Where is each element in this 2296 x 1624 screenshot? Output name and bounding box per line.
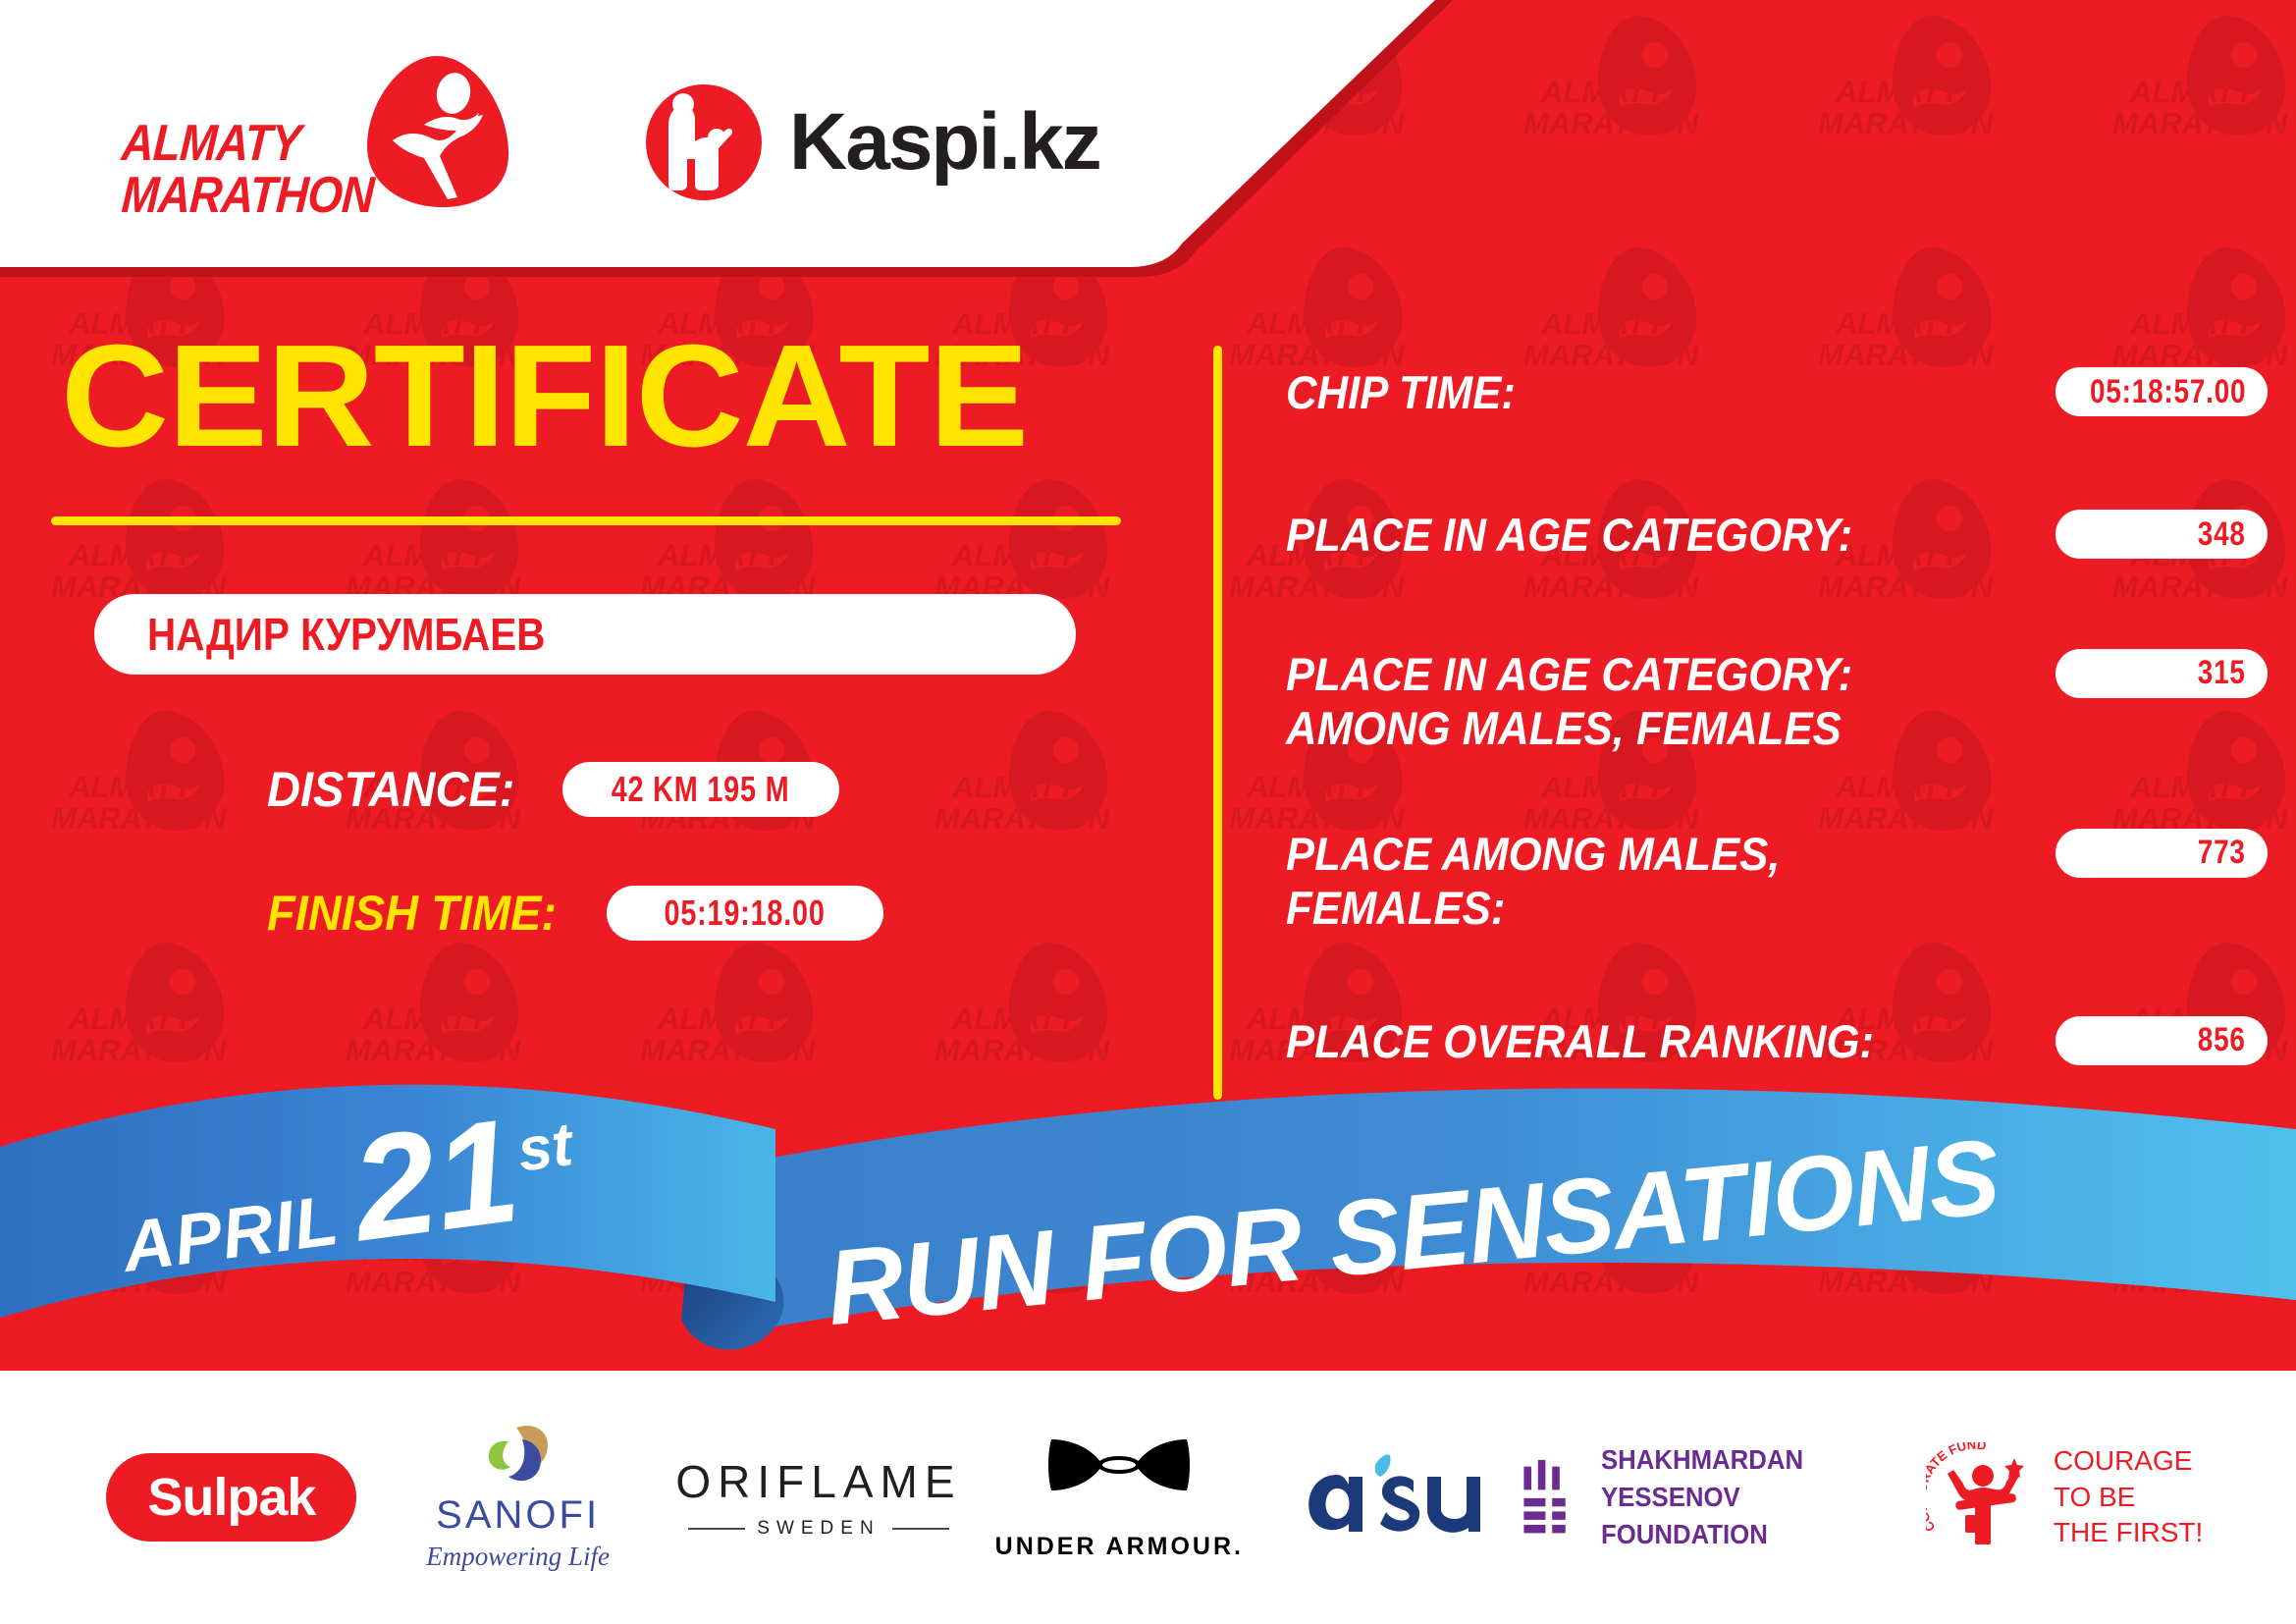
page-title: CERTIFICATE bbox=[61, 324, 1211, 469]
among-gender-value: 773 bbox=[2198, 834, 2246, 872]
yessenov-line-2: FOUNDATION bbox=[1601, 1516, 1896, 1553]
overall-ranking-value: 856 bbox=[2198, 1021, 2246, 1059]
distance-pill: 42 KM 195 M bbox=[562, 762, 839, 817]
result-row-overall: PLACE OVERALL RANKING: 856 bbox=[1286, 1014, 2268, 1068]
overall-ranking-pill: 856 bbox=[2056, 1016, 2268, 1065]
oriflame-wordmark: ORIFLAME bbox=[675, 1455, 961, 1508]
courage-line-2: TO BE bbox=[2054, 1480, 2203, 1515]
left-column: CERTIFICATE НАДИР КУРУМБАЕВ DISTANCE: 42… bbox=[0, 324, 1178, 942]
sanofi-tagline: Empowering Life bbox=[426, 1542, 610, 1572]
sponsor-logos: Sulpak SANOFI Empowering Life ORIFLAME S… bbox=[0, 1371, 2296, 1624]
kaspi-wordmark: Kaspi.kz bbox=[789, 96, 1100, 189]
chip-time-value: 05:18:57.00 bbox=[2090, 373, 2246, 411]
age-category-pill: 348 bbox=[2056, 510, 2268, 559]
sponsor-under-armour: UNDER ARMOUR. bbox=[976, 1424, 1262, 1571]
chip-time-label: CHIP TIME: bbox=[1286, 365, 2002, 419]
sponsor-sulpak: Sulpak bbox=[88, 1424, 375, 1571]
finish-time-value: 05:19:18.00 bbox=[665, 893, 826, 934]
age-category-label: PLACE IN AGE CATEGORY: bbox=[1286, 508, 2002, 562]
almaty-marathon-wordmark: ALMATY MARATHON bbox=[122, 121, 407, 219]
sponsor-oriflame: ORIFLAME SWEDEN bbox=[662, 1424, 977, 1571]
sponsor-sanofi: SANOFI Empowering Life bbox=[375, 1424, 662, 1571]
result-row-among-gender: PLACE AMONG MALES, FEMALES: 773 bbox=[1286, 827, 2268, 936]
almaty-line: ALMATY bbox=[121, 121, 375, 167]
sanofi-wordmark: SANOFI bbox=[426, 1493, 610, 1538]
distance-label: DISTANCE: bbox=[267, 761, 514, 818]
event-day-ordinal: st bbox=[513, 1110, 576, 1186]
result-row-age-category-gender: PLACE IN AGE CATEGORY: AMONG MALES, FEMA… bbox=[1286, 647, 2268, 756]
under-armour-icon bbox=[1045, 1434, 1193, 1520]
courage-line-3: THE FIRST! bbox=[2054, 1515, 2203, 1550]
age-category-gender-value: 315 bbox=[2198, 654, 2246, 692]
marathon-line: MARATHON bbox=[121, 173, 375, 219]
yessenov-line-1: SHAKHMARDAN YESSENOV bbox=[1601, 1441, 1896, 1516]
title-divider bbox=[51, 516, 1121, 525]
result-row-age-category: PLACE IN AGE CATEGORY: 348 bbox=[1286, 508, 2268, 562]
age-category-gender-pill: 315 bbox=[2056, 649, 2268, 698]
kaspi-people-icon bbox=[644, 82, 764, 202]
finish-time-pill: 05:19:18.00 bbox=[607, 886, 883, 941]
distance-value: 42 KM 195 M bbox=[612, 769, 790, 810]
event-ribbon: APRIL 21 st RUN FOR SENSATIONS bbox=[0, 1074, 2296, 1388]
kaspi-logo: Kaspi.kz bbox=[644, 82, 1100, 202]
sponsor-asu bbox=[1262, 1424, 1521, 1571]
asu-wordmark bbox=[1298, 1453, 1484, 1542]
among-gender-pill: 773 bbox=[2056, 829, 2268, 878]
oriflame-tagline: SWEDEN bbox=[757, 1518, 880, 1540]
age-category-gender-label: PLACE IN AGE CATEGORY: AMONG MALES, FEMA… bbox=[1286, 647, 2002, 756]
under-armour-wordmark: UNDER ARMOUR. bbox=[995, 1533, 1244, 1561]
participant-name-field: НАДИР КУРУМБАЕВ bbox=[94, 594, 1076, 675]
sponsor-courage-fund: CORPORATE FUND COURAGE TO BE THE FIRST! bbox=[1921, 1424, 2208, 1571]
certificate-canvas: ALMATY MARATHON ALMATY MARATHON bbox=[0, 0, 2296, 1624]
sponsor-yessenov-foundation: SHAKHMARDAN YESSENOV FOUNDATION bbox=[1521, 1424, 1921, 1571]
chip-time-pill: 05:18:57.00 bbox=[2056, 367, 2268, 416]
event-day: 21 bbox=[346, 1104, 525, 1257]
distance-row: DISTANCE: 42 KM 195 M bbox=[267, 761, 1178, 818]
brand-logo-row: ALMATY MARATHON Kaspi.kz bbox=[0, 0, 1178, 285]
courage-line-1: COURAGE bbox=[2054, 1443, 2203, 1479]
courage-fund-icon: CORPORATE FUND bbox=[1926, 1442, 2044, 1552]
yessenov-icon bbox=[1521, 1453, 1575, 1542]
results-column: CHIP TIME: 05:18:57.00 PLACE IN AGE CATE… bbox=[1286, 365, 2268, 1068]
among-gender-label: PLACE AMONG MALES, FEMALES: bbox=[1286, 827, 2002, 936]
column-divider bbox=[1213, 346, 1222, 1100]
overall-ranking-label: PLACE OVERALL RANKING: bbox=[1286, 1014, 2002, 1068]
oriflame-rule-left bbox=[688, 1528, 745, 1530]
age-category-value: 348 bbox=[2198, 515, 2246, 554]
finish-time-row: FINISH TIME: 05:19:18.00 bbox=[267, 885, 1178, 942]
sanofi-icon bbox=[479, 1424, 558, 1485]
finish-time-label: FINISH TIME: bbox=[267, 885, 557, 942]
result-row-chip-time: CHIP TIME: 05:18:57.00 bbox=[1286, 365, 2268, 419]
oriflame-rule-right bbox=[892, 1528, 949, 1530]
almaty-marathon-logo: ALMATY MARATHON bbox=[116, 44, 538, 241]
sulpak-wordmark: Sulpak bbox=[106, 1453, 356, 1542]
participant-name: НАДИР КУРУМБАЕВ bbox=[147, 608, 545, 661]
